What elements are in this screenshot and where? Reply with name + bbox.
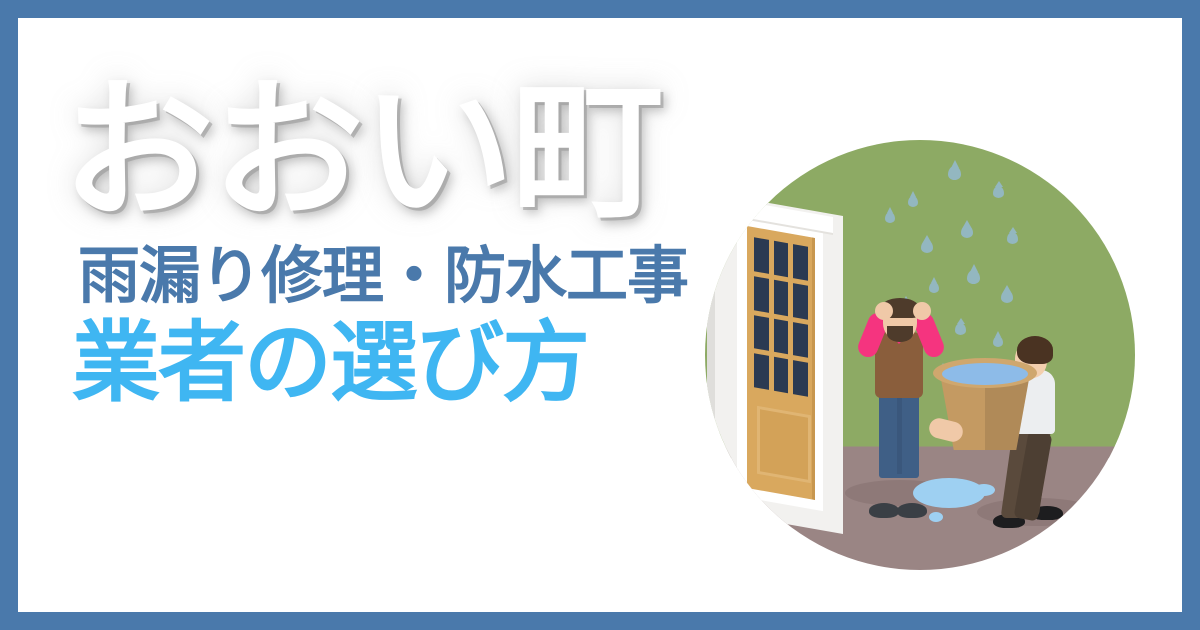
water-puddle-drop [929, 512, 943, 522]
shoe-left [869, 503, 899, 518]
jeans [879, 386, 919, 478]
door-pane [774, 279, 789, 315]
raindrop [993, 186, 1004, 198]
door-pane [793, 322, 808, 358]
subtitle-service: 雨漏り修理・防水工事 [78, 244, 762, 309]
tagline-how-to-choose: 業者の選び方 [72, 317, 762, 409]
raindrop [961, 225, 973, 238]
water-bucket [933, 358, 1037, 454]
hand-right [913, 302, 931, 320]
headline-block: おおい町 雨漏り修理・防水工事 業者の選び方 [62, 76, 762, 409]
illustration-water-leak [705, 140, 1135, 570]
page-title: おおい町 [62, 76, 762, 228]
door-pane [774, 357, 789, 393]
bucket-water-surface [942, 363, 1028, 385]
raindrop [948, 166, 961, 180]
hand-left [875, 302, 893, 320]
door-pane [793, 244, 808, 280]
door-pane [774, 318, 789, 354]
raindrop [967, 270, 980, 284]
og-image-card: おおい町 雨漏り修理・防水工事 業者の選び方 [0, 0, 1200, 630]
raindrop [885, 212, 895, 223]
beard [887, 326, 913, 342]
door-glass-grid [754, 237, 808, 397]
raindrop [1007, 232, 1018, 244]
raindrop [955, 323, 966, 335]
shoe-right [897, 503, 927, 518]
door-lower-panel [757, 406, 811, 484]
door-pane [774, 241, 789, 277]
door-pane [793, 283, 808, 319]
raindrop [921, 240, 933, 253]
illustration-scene [705, 140, 1135, 570]
door-pane [793, 360, 808, 396]
raindrop [1001, 290, 1013, 303]
raindrop [908, 196, 918, 207]
